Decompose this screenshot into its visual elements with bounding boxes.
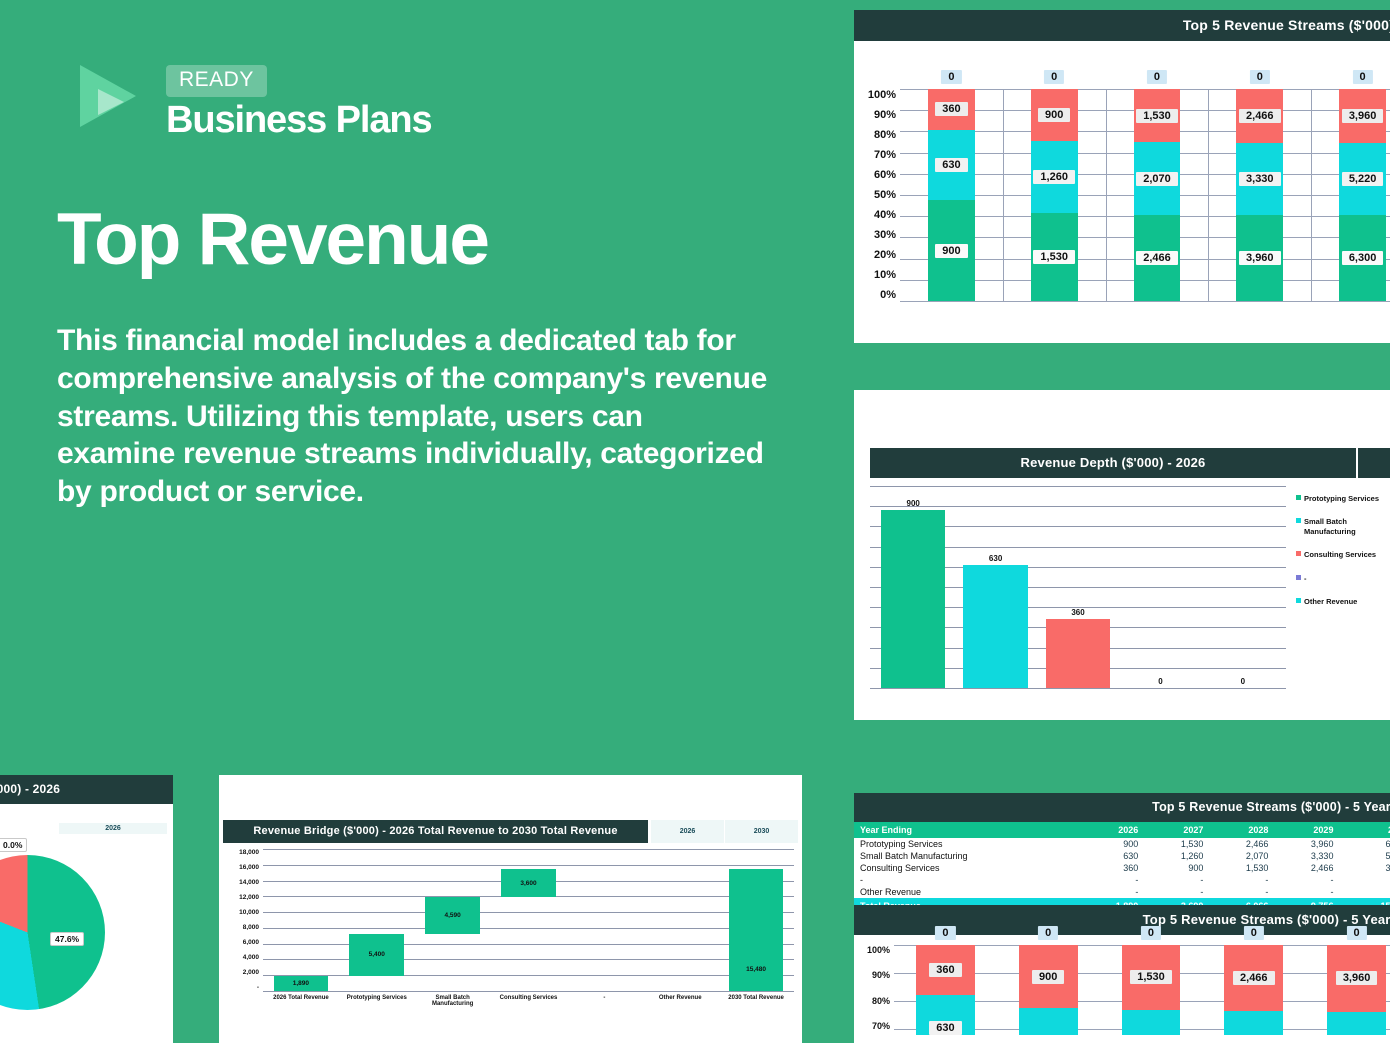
bar-stack-2026: 0 360 630 900 <box>928 89 975 301</box>
y-tick: 18,000 <box>223 849 259 856</box>
bar-other-revenue: 0 <box>1202 486 1284 688</box>
bar-stack-2030: 0 3,960 <box>1327 945 1386 1035</box>
row-label: Prototyping Services <box>854 838 1079 850</box>
cell: 2,466 <box>1274 862 1339 874</box>
y-tick: 30% <box>854 229 896 241</box>
pie-year-header: 2026 <box>59 823 167 834</box>
table-row: Consulting Services 360 900 1,530 2,466 … <box>854 862 1390 874</box>
percent-stacked-chart: 100% 90% 80% 70% 60% 50% 40% 30% 20% 10%… <box>854 41 1390 309</box>
chart-card-revenue-depth: Revenue Depth ($'000) - 2026 900 630 3 <box>854 390 1390 720</box>
table-header-row: Year Ending 2026 2027 2028 2029 2030 <box>854 822 1390 838</box>
bar-prototyping: 900 <box>872 486 954 688</box>
segment-small-batch <box>1019 1008 1078 1035</box>
segment-small-batch: 5,220 <box>1339 143 1386 214</box>
segment-small-batch <box>1224 1011 1283 1035</box>
legend-swatch-icon <box>1296 551 1301 556</box>
ready-badge: READY <box>166 65 267 97</box>
bar-value: 0 <box>1241 677 1245 686</box>
x-tick: 2026 Total Revenue <box>263 995 339 1007</box>
wf-col-small-batch: 4,590 <box>415 849 491 991</box>
table-card-revenue-streams: Top 5 Revenue Streams ($'000) - 5 Years … <box>854 793 1390 911</box>
y-tick: 40% <box>854 209 896 221</box>
bar-value: 900 <box>907 499 920 508</box>
legend-item: - <box>1296 574 1390 583</box>
segment-consulting: 900 <box>1019 945 1078 1008</box>
segment-consulting: 3,960 <box>1327 945 1386 1012</box>
bar-value: 1,890 <box>293 980 309 987</box>
y-tick: 80% <box>854 996 890 1006</box>
cell: 2,070 <box>1209 850 1274 862</box>
table-row: - - - - - - <box>854 874 1390 886</box>
brand-title: Business Plans <box>166 101 432 141</box>
depth-title-row: Revenue Depth ($'000) - 2026 <box>854 390 1390 478</box>
x-tick: Other Revenue <box>642 995 718 1007</box>
y-tick: 100% <box>854 945 890 955</box>
chart-title: Revenue Bridge ($'000) - 2026 Total Reve… <box>223 820 648 843</box>
cell: 900 <box>1079 838 1144 850</box>
cell: 5,220 <box>1339 850 1390 862</box>
table-row: Prototyping Services 900 1,530 2,466 3,9… <box>854 838 1390 850</box>
y-tick: - <box>223 984 259 991</box>
y-tick: 0% <box>854 289 896 301</box>
bridge-legend: 2026 2030 <box>650 820 798 843</box>
bar-value: 3,600 <box>520 880 536 887</box>
y-tick: 12,000 <box>223 894 259 901</box>
segment-small-batch: 2,070 <box>1134 142 1181 214</box>
row-label: - <box>854 874 1079 886</box>
y-tick: 4,000 <box>223 954 259 961</box>
bar-small-batch: 630 <box>954 486 1036 688</box>
chart-title: Run-Rate ($'000) - 2026 <box>0 775 173 804</box>
chart-card-run-rate-pie: Run-Rate ($'000) - 2026 2026 0.0% 0.0% .… <box>0 775 173 1043</box>
wf-bar: 4,590 <box>425 897 480 933</box>
legend-label: Other Revenue <box>1304 597 1357 606</box>
col-2027: 2027 <box>1144 822 1209 838</box>
bridge-body: 18,000 16,000 14,000 12,000 10,000 8,000… <box>223 849 794 1009</box>
y-tick: 100% <box>854 89 896 101</box>
brand-logo: READY Business Plans <box>74 55 432 141</box>
bar-stack-2027: 0 900 1,260 1,530 <box>1031 89 1078 301</box>
y-axis-ticks: 100% 90% 80% 70% <box>854 945 890 1031</box>
wf-bar: 5,400 <box>349 934 404 977</box>
bar-value: 5,400 <box>369 951 385 958</box>
wf-bar: 1,890 <box>274 976 329 991</box>
table-title: Top 5 Revenue Streams ($'000) - 5 Years <box>854 793 1390 822</box>
segment-consulting: 1,530 <box>1134 89 1181 142</box>
bar-stack-2030: 0 3,960 5,220 6,300 <box>1339 89 1386 301</box>
cell: - <box>1079 886 1144 898</box>
chart-card-bottom-revenue-streams: Top 5 Revenue Streams ($'000) - 5 Years … <box>854 905 1390 1043</box>
plot-area: 900 630 360 0 0 <box>870 486 1286 688</box>
segment-consulting: 360 <box>928 89 975 129</box>
cell: 1,530 <box>1209 862 1274 874</box>
waterfall-bars: 1,890 5,400 4,590 3,600 15,480 <box>263 849 794 991</box>
legend-swatch-icon <box>1296 598 1301 603</box>
cell: 3,330 <box>1274 850 1339 862</box>
cell: - <box>1339 874 1390 886</box>
x-axis-labels: 2026 Total Revenue Prototyping Services … <box>263 995 794 1007</box>
x-tick: Consulting Services <box>491 995 567 1007</box>
bar-value: 4,590 <box>444 912 460 919</box>
legend-year-2030: 2030 <box>724 820 798 843</box>
plot-area: 0 360 630 900 0 900 1,260 1,530 0 1,530 … <box>900 89 1390 301</box>
legend-item: Consulting Services <box>1296 550 1390 559</box>
x-tick: 2030 Total Revenue <box>718 995 794 1007</box>
pie-label: 0.0% <box>0 838 27 852</box>
y-tick: 6,000 <box>223 939 259 946</box>
bridge-header: Revenue Bridge ($'000) - 2026 Total Reve… <box>219 775 802 843</box>
pie-area: 0.0% 0.0% .0% 47.6% <box>0 850 173 1035</box>
segment-prototyping: 1,530 <box>1031 213 1078 301</box>
bar-stack-2029: 0 2,466 <box>1224 945 1283 1035</box>
segment-small-batch: 630 <box>916 995 975 1035</box>
chart-card-revenue-bridge: Revenue Bridge ($'000) - 2026 Total Reve… <box>219 775 802 1043</box>
y-tick: 16,000 <box>223 864 259 871</box>
legend-label: Prototyping Services <box>1304 494 1379 503</box>
segment-consulting: 360 <box>916 945 975 995</box>
x-tick: Small Batch Manufacturing <box>415 995 491 1007</box>
y-tick: 14,000 <box>223 879 259 886</box>
segment-small-batch: 630 <box>928 130 975 201</box>
y-tick: 50% <box>854 189 896 201</box>
page-description: This financial model includes a dedicate… <box>57 322 767 511</box>
chart-legend: Prototyping Services Small Batch Manufac… <box>1286 486 1390 688</box>
legend-swatch-icon <box>1296 495 1301 500</box>
cell: 630 <box>1079 850 1144 862</box>
cell: 3,960 <box>1339 862 1390 874</box>
segment-consulting: 3,960 <box>1339 89 1386 143</box>
row-label: Other Revenue <box>854 886 1079 898</box>
segment-consulting: 900 <box>1031 89 1078 141</box>
col-2028: 2028 <box>1209 822 1274 838</box>
wf-bar: 15,480 <box>729 869 784 991</box>
col-2030: 2030 <box>1339 822 1390 838</box>
col-2026: 2026 <box>1079 822 1144 838</box>
plot-area: 0 360 630 0 900 0 1,530 0 2,466 0 3,9 <box>894 945 1390 1035</box>
legend-year-2026: 2026 <box>650 820 724 843</box>
cell: 360 <box>1079 862 1144 874</box>
page-title: Top Revenue <box>57 203 488 276</box>
percent-stacked-chart-bottom: 100% 90% 80% 70% 0 360 630 0 900 0 1,530 <box>854 935 1390 1035</box>
cell: 1,530 <box>1144 838 1209 850</box>
y-tick: 90% <box>854 109 896 121</box>
x-tick: - <box>566 995 642 1007</box>
y-tick: 10% <box>854 269 896 281</box>
y-axis-ticks: 100% 90% 80% 70% 60% 50% 40% 30% 20% 10%… <box>854 89 896 301</box>
cell: 6,300 <box>1339 838 1390 850</box>
cell: - <box>1209 886 1274 898</box>
chart-title: Top 5 Revenue Streams ($'000) <box>854 10 1390 41</box>
wf-col-2030-total: 15,480 <box>718 849 794 991</box>
legend-swatch-icon <box>1296 518 1301 523</box>
cell: - <box>1274 886 1339 898</box>
segment-small-batch <box>1327 1012 1386 1035</box>
col-year-ending: Year Ending <box>854 822 1079 838</box>
bar-blank: 0 <box>1119 486 1201 688</box>
segment-prototyping: 6,300 <box>1339 215 1386 301</box>
cell: - <box>1144 874 1209 886</box>
bar-value: 0 <box>1158 677 1162 686</box>
bar-value: 630 <box>989 554 1002 563</box>
wf-bar: 3,600 <box>501 869 556 897</box>
segment-small-batch <box>1122 1010 1181 1035</box>
y-tick: 70% <box>854 149 896 161</box>
wf-col-2026-total: 1,890 <box>263 849 339 991</box>
legend-item: Prototyping Services <box>1296 494 1390 503</box>
table-row: Other Revenue - - - - - <box>854 886 1390 898</box>
pie-label: 47.6% <box>50 932 84 946</box>
segment-prototyping: 3,960 <box>1236 215 1283 301</box>
legend-swatch-icon <box>1296 575 1301 580</box>
legend-item: Small Batch Manufacturing <box>1296 517 1390 536</box>
bar-stack-2028: 0 1,530 <box>1122 945 1181 1035</box>
segment-small-batch: 1,260 <box>1031 141 1078 213</box>
cell: 1,260 <box>1144 850 1209 862</box>
cell: 900 <box>1144 862 1209 874</box>
cell: - <box>1339 886 1390 898</box>
wf-col-blank <box>566 849 642 991</box>
segment-consulting: 1,530 <box>1122 945 1181 1010</box>
bar-stack-2026: 0 360 630 <box>916 945 975 1035</box>
bars: 900 630 360 0 0 <box>870 486 1286 688</box>
legend-label: Small Batch Manufacturing <box>1304 517 1390 536</box>
title-spacer <box>1358 448 1390 478</box>
wf-col-other-revenue <box>642 849 718 991</box>
cell: 3,960 <box>1274 838 1339 850</box>
bar-stack-2028: 0 1,530 2,070 2,466 <box>1134 89 1181 301</box>
table-row: Small Batch Manufacturing 630 1,260 2,07… <box>854 850 1390 862</box>
segment-prototyping: 2,466 <box>1134 215 1181 301</box>
bar-value: 15,480 <box>746 966 766 973</box>
play-triangle-icon <box>74 59 148 133</box>
y-tick: 8,000 <box>223 924 259 931</box>
cell: 2,466 <box>1209 838 1274 850</box>
bar-stack-2027: 0 900 <box>1019 945 1078 1035</box>
wf-col-consulting: 3,600 <box>491 849 567 991</box>
y-axis-ticks: 18,000 16,000 14,000 12,000 10,000 8,000… <box>223 849 259 991</box>
depth-body: 900 630 360 0 0 <box>854 478 1390 688</box>
cell: - <box>1079 874 1144 886</box>
y-tick: 2,000 <box>223 969 259 976</box>
plot-area: 1,890 5,400 4,590 3,600 15,480 <box>263 849 794 991</box>
bar-stack-2029: 0 2,466 3,330 3,960 <box>1236 89 1283 301</box>
y-tick: 20% <box>854 249 896 261</box>
y-tick: 10,000 <box>223 909 259 916</box>
bar-value: 360 <box>1071 608 1084 617</box>
cell: - <box>1144 886 1209 898</box>
segment-prototyping: 900 <box>928 200 975 301</box>
x-tick: Prototyping Services <box>339 995 415 1007</box>
y-tick: 80% <box>854 129 896 141</box>
legend-label: Consulting Services <box>1304 550 1376 559</box>
cell: - <box>1274 874 1339 886</box>
col-2029: 2029 <box>1274 822 1339 838</box>
wf-col-prototyping: 5,400 <box>339 849 415 991</box>
legend-item: Other Revenue <box>1296 597 1390 606</box>
segment-consulting: 2,466 <box>1224 945 1283 1011</box>
chart-card-top-revenue-streams: Top 5 Revenue Streams ($'000) 100% 90% 8… <box>854 10 1390 343</box>
y-tick: 60% <box>854 169 896 181</box>
chart-title: Revenue Depth ($'000) - 2026 <box>870 448 1356 478</box>
y-tick: 90% <box>854 970 890 980</box>
legend-label: - <box>1304 574 1307 583</box>
cell: - <box>1209 874 1274 886</box>
bar-consulting: 360 <box>1037 486 1119 688</box>
row-label: Consulting Services <box>854 862 1079 874</box>
revenue-table: Year Ending 2026 2027 2028 2029 2030 Pro… <box>854 822 1390 911</box>
segment-small-batch: 3,330 <box>1236 143 1283 215</box>
segment-consulting: 2,466 <box>1236 89 1283 143</box>
row-label: Small Batch Manufacturing <box>854 850 1079 862</box>
y-tick: 70% <box>854 1021 890 1031</box>
